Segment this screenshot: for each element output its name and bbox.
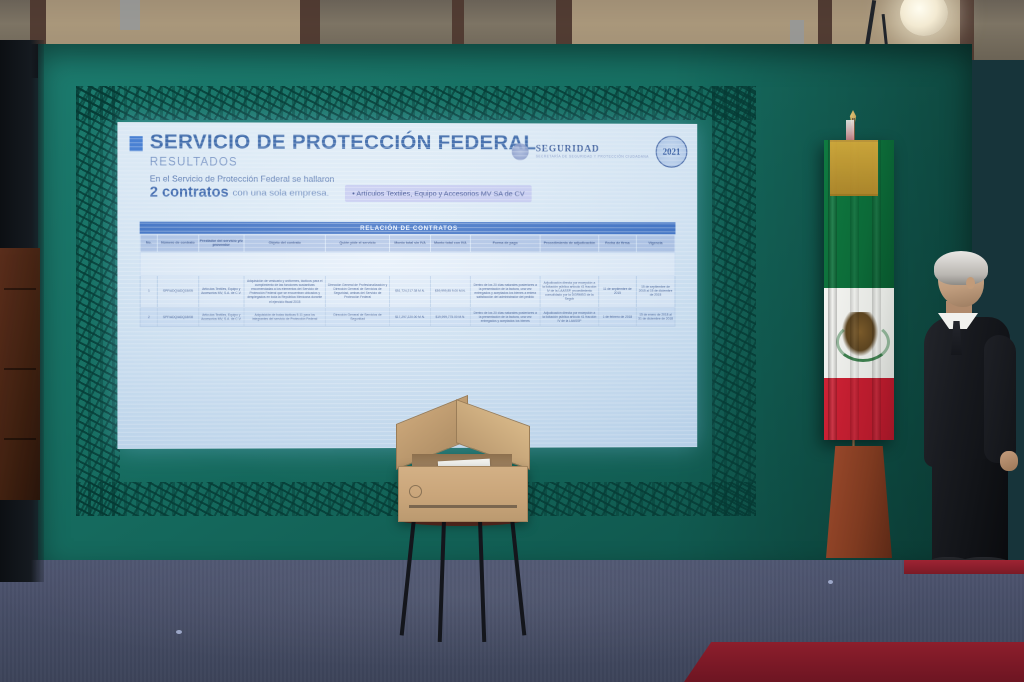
col-solicita: Quién pide el servicio xyxy=(325,234,390,252)
cell-vigencia: 15 de septiembre de 2015 al 15 de diciem… xyxy=(636,275,675,307)
table-header-row: No. Número de contrato Prestador del ser… xyxy=(140,234,675,252)
col-fecha-firma: Fecha de firma xyxy=(599,235,636,253)
col-monto-con-iva: Monto total con IVA xyxy=(430,235,470,253)
stage-floor xyxy=(0,560,1024,682)
anniversary-badge-icon: 2021 xyxy=(656,136,688,168)
cell-objeto: Adquisición de vestuario y uniformes, tá… xyxy=(244,275,325,307)
slide-content: SERVICIO DE PROTECCIÓN FEDERAL RESULTADO… xyxy=(117,122,697,449)
cabinet-line xyxy=(4,438,36,440)
cell-fecha-firma: 11 de septiembre de 2015 xyxy=(599,275,636,307)
cell-forma-pago: Dentro de los 20 días naturales posterio… xyxy=(470,275,540,307)
cabinet-line xyxy=(4,368,36,370)
cell-forma-pago: Dentro de los 20 días naturales posterio… xyxy=(470,307,540,326)
cell-solicita: Dirección General de Profesionalización … xyxy=(325,275,390,307)
contracts-table-wrap: RELACIÓN DE CONTRATOS No. Número de cont… xyxy=(140,222,676,328)
brand-subtitle: SECRETARÍA DE SEGURIDAD Y PROTECCIÓN CIU… xyxy=(536,154,649,158)
projection-screen: SERVICIO DE PROTECCIÓN FEDERAL RESULTADO… xyxy=(117,122,697,449)
contracts-table: No. Número de contrato Prestador del ser… xyxy=(140,234,676,328)
cell-solicita: Dirección General de Servicios de Seguri… xyxy=(325,307,390,327)
cell-procedimiento: Adjudicación directa por excepción a la … xyxy=(540,307,599,326)
col-contrato: Número de contrato xyxy=(158,234,199,252)
wall-plaque xyxy=(120,0,140,30)
brand-name: SEGURIDAD xyxy=(536,144,649,154)
cell-monto-sin-iva: $17,297,220.00 M.N. xyxy=(390,307,430,326)
slide-lead-text: En el Servicio de Protección Federal se … xyxy=(150,173,686,184)
table-caption: RELACIÓN DE CONTRATOS xyxy=(140,222,676,235)
slide-highlight-row: 2 contratos con una sola empresa. • Artí… xyxy=(150,184,686,202)
cell-fecha-firma: 1 de febrero de 2018 xyxy=(599,307,636,326)
col-forma-pago: Forma de pago xyxy=(470,235,540,253)
screenshot-stage: SERVICIO DE PROTECCIÓN FEDERAL RESULTADO… xyxy=(0,0,1024,682)
cell-monto-con-iva: $59,999,85 9.00 M.N. xyxy=(430,275,470,307)
box-front-face xyxy=(398,466,528,522)
greca-pattern-top xyxy=(76,86,756,120)
cell-contrato: SPF/ADQ/ADQ15/05 xyxy=(158,275,199,307)
cell-no: 1 xyxy=(140,275,157,307)
cell-proveedor: Artículos Textiles, Equipo y Accesorios … xyxy=(198,307,244,327)
box-seam-line xyxy=(409,505,517,508)
cabinet-line xyxy=(4,288,36,290)
red-stage-skirt-upper xyxy=(904,560,1024,574)
open-cardboard-box xyxy=(398,424,526,520)
wall-plaque xyxy=(790,20,804,46)
floor-debris xyxy=(828,580,833,584)
table-row: 1 SPF/ADQ/ADQ15/05 Artículos Textiles, E… xyxy=(140,275,675,307)
col-objeto: Objeto del contrato xyxy=(244,234,325,252)
box-logo-icon xyxy=(409,485,422,498)
person-legs xyxy=(932,459,1008,565)
greca-pattern-right xyxy=(712,86,756,516)
cell-monto-sin-iva: $51,724,217.38 M.N. xyxy=(390,275,430,307)
cell-contrato: SPF/ADQ/ADQ18/08 xyxy=(158,307,199,327)
col-procedimiento: Procedimiento de adjudicación xyxy=(540,235,599,253)
company-tag: • Artículos Textiles, Equipo y Accesorio… xyxy=(345,184,531,201)
person-arm xyxy=(984,335,1016,463)
slide-subtitle: RESULTADOS xyxy=(150,156,537,169)
contract-count: 2 contratos xyxy=(150,184,229,200)
person-ear xyxy=(966,277,975,289)
person-hand xyxy=(1000,451,1018,471)
title-marker-icon xyxy=(130,136,143,151)
speaker-standing xyxy=(920,255,1024,580)
cell-proveedor: Artículos Textiles, Equipo y Accesorios … xyxy=(198,275,244,307)
table-spacer-row xyxy=(140,252,675,275)
cell-objeto: Adquisición de botas tácticas 5.11 para … xyxy=(244,307,325,327)
floor-debris xyxy=(176,630,182,634)
brand-lockup: SEGURIDAD SECRETARÍA DE SEGURIDAD Y PROT… xyxy=(512,135,688,167)
table-row: 2 SPF/ADQ/ADQ18/08 Artículos Textiles, E… xyxy=(140,307,675,327)
eagle-seal-icon xyxy=(512,143,529,160)
cell-vigencia: 15 de enero de 2018 al 31 de diciembre d… xyxy=(636,307,675,326)
wooden-cabinet xyxy=(0,248,40,500)
cell-procedimiento: Adjudicación directa por excepción a la … xyxy=(540,275,599,307)
greca-pattern-left xyxy=(76,86,120,516)
red-stage-skirt xyxy=(684,642,1024,682)
col-no: No. xyxy=(140,234,157,252)
col-proveedor: Prestador del servicio y/o proveedor xyxy=(198,234,244,252)
flag-wreath-icon xyxy=(836,322,890,362)
flag-wooden-base xyxy=(826,446,892,558)
spacer-cell xyxy=(140,252,675,275)
cell-no: 2 xyxy=(140,307,157,327)
flag-gold-band xyxy=(830,140,878,196)
cell-monto-con-iva: $19,999,775.00 M.N. xyxy=(430,307,470,326)
col-monto-sin-iva: Monto total sin IVA xyxy=(390,234,430,252)
person-hair xyxy=(934,251,988,285)
col-vigencia: Vigencia xyxy=(636,235,675,253)
page-title: SERVICIO DE PROTECCIÓN FEDERAL xyxy=(150,132,537,154)
contract-count-suffix: con una sola empresa. xyxy=(233,187,330,198)
